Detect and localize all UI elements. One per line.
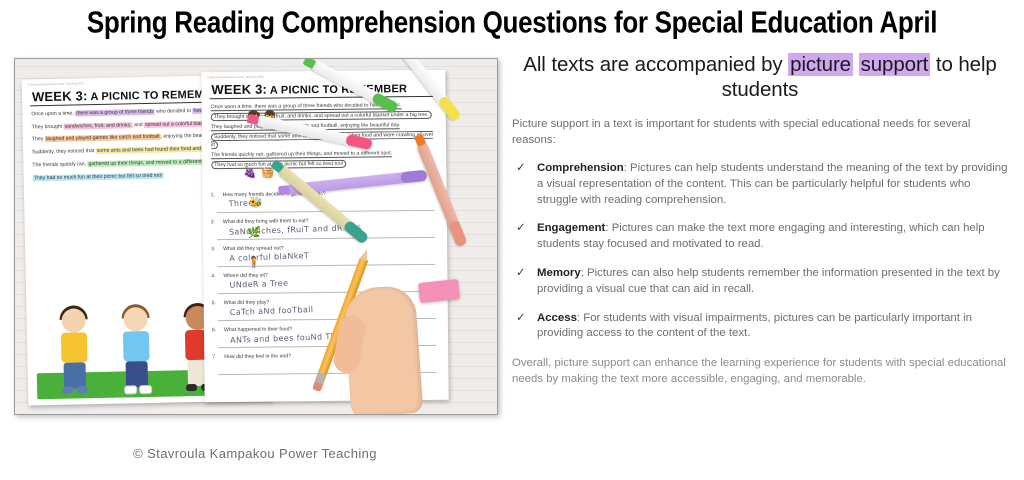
question-text: Where did they sit? bbox=[223, 273, 267, 279]
check-icon: ✓ bbox=[516, 221, 526, 237]
question-number: 4. bbox=[211, 273, 215, 279]
headline-highlight-picture: picture bbox=[788, 53, 853, 76]
story-text: They brought bbox=[32, 123, 64, 130]
story-text: and bbox=[132, 122, 144, 128]
question-text: What did they spread out? bbox=[223, 245, 284, 252]
benefit-item: ✓Memory: Pictures can also help students… bbox=[512, 266, 1012, 298]
benefit-item: ✓Comprehension: Pictures can help studen… bbox=[512, 161, 1012, 208]
benefit-term: Engagement bbox=[537, 222, 605, 234]
worksheet-left-title-week: WEEK 3: bbox=[32, 88, 88, 104]
benefit-item: ✓Access: For students with visual impair… bbox=[512, 311, 1012, 343]
benefit-term: Access bbox=[537, 312, 577, 324]
highlighted-text: laughed and played games like catch and … bbox=[45, 134, 161, 142]
highlighted-text: They had so much fun at their picnic but… bbox=[33, 172, 164, 181]
story-text: Once upon a time, bbox=[31, 110, 75, 117]
question-number: 7. bbox=[212, 354, 216, 360]
check-icon: ✓ bbox=[516, 266, 526, 282]
highlighted-text: sandwiches, fruit, and drinks, bbox=[64, 122, 133, 129]
question-text: What did they bring with them to eat? bbox=[223, 218, 309, 225]
benefit-term: Memory bbox=[537, 267, 581, 279]
bee-icon: 🐝 bbox=[249, 197, 263, 208]
worksheet-right-title: WEEK 3: A PICNIC TO REMEMBER bbox=[211, 80, 445, 97]
page-title: Spring Reading Comprehension Questions f… bbox=[0, 4, 1024, 41]
story-text: They bbox=[32, 137, 45, 143]
benefit-text: : For students with visual impairments, … bbox=[537, 312, 972, 340]
story-text: who decided to bbox=[155, 108, 193, 115]
slide-root: Spring Reading Comprehension Questions f… bbox=[0, 0, 1024, 480]
summary-paragraph: Overall, picture support can enhance the… bbox=[512, 355, 1010, 387]
student-hand bbox=[343, 285, 424, 415]
benefit-text: : Pictures can make the text more engagi… bbox=[537, 222, 985, 250]
benefit-item: ✓Engagement: Pictures can make the text … bbox=[512, 221, 1012, 253]
copyright-credit: © Stavroula Kampakou Power Teaching bbox=[14, 446, 496, 461]
handwritten-answer: CaTch aNd fooTball bbox=[230, 305, 314, 317]
annotated-text: They brought sandwiches, fruit, and drin… bbox=[211, 111, 432, 121]
highlighted-text: some ants and bees had found their food … bbox=[96, 146, 215, 154]
question-row: 3.What did they spread out?A colorful bl… bbox=[209, 244, 441, 273]
story-text: Suddenly, they noticed that bbox=[32, 148, 96, 155]
story-line: The friends quickly ran, gathered up the… bbox=[211, 149, 438, 160]
worksheet-photo: © Stavroula Kampakou Power Teaching 2023… bbox=[14, 58, 498, 415]
highlighted-text: there was a group of three friends bbox=[75, 109, 155, 117]
question-text: What did they play? bbox=[224, 300, 270, 306]
handwritten-answer: A colorful blaNkeT bbox=[229, 251, 309, 263]
kid-boy-blue bbox=[115, 307, 157, 394]
question-number: 2. bbox=[211, 219, 215, 225]
benefits-list: ✓Comprehension: Pictures can help studen… bbox=[512, 161, 1012, 342]
check-icon: ✓ bbox=[516, 311, 526, 327]
story-line: They brought sandwiches, fruit, and drin… bbox=[211, 111, 438, 122]
grass-sticker-icon: 🌿 bbox=[247, 227, 261, 238]
annotated-text: The friends quickly ran, gathered up the… bbox=[211, 150, 392, 159]
headline-part2 bbox=[853, 53, 859, 76]
question-number: 3. bbox=[211, 246, 215, 252]
highlighted-text: gathered up their things, and moved to a… bbox=[87, 158, 215, 167]
benefit-text: : Pictures can also help students rememb… bbox=[537, 267, 1000, 295]
question-number: 6. bbox=[212, 327, 216, 333]
headline-highlight-support: support bbox=[859, 53, 931, 76]
fruit-basket-icon: 🍇 bbox=[243, 167, 257, 178]
question-text: What happened to their food? bbox=[224, 326, 292, 333]
intro-paragraph: Picture support in a text is important f… bbox=[512, 117, 1010, 148]
right-column: All texts are accompanied by picture sup… bbox=[500, 52, 1016, 387]
story-text: The friends quickly ran, bbox=[32, 161, 87, 168]
story-line: Once upon a time, there was a group of t… bbox=[211, 101, 438, 112]
question-number: 5. bbox=[212, 300, 216, 306]
question-text: How did they feel in the end? bbox=[224, 353, 291, 360]
kid-girl bbox=[53, 308, 95, 395]
worksheet-right-title-rest: A PICNIC TO REMEMBER bbox=[267, 83, 407, 96]
check-icon: ✓ bbox=[516, 161, 526, 177]
kid-pink-icon: 🧍 bbox=[247, 257, 261, 268]
annotated-text: Once upon a time, there was a group of t… bbox=[211, 102, 402, 111]
headline: All texts are accompanied by picture sup… bbox=[512, 52, 1008, 102]
headline-part1: All texts are accompanied by bbox=[523, 53, 788, 76]
pink-eraser bbox=[418, 279, 460, 303]
question-row: 2.What did they bring with them to eat?S… bbox=[209, 217, 441, 246]
benefit-term: Comprehension bbox=[537, 162, 624, 174]
handwritten-answer: UNdeR a Tree bbox=[229, 279, 288, 290]
worksheet-right-title-week: WEEK 3: bbox=[211, 82, 267, 98]
question-number: 1. bbox=[211, 192, 215, 198]
